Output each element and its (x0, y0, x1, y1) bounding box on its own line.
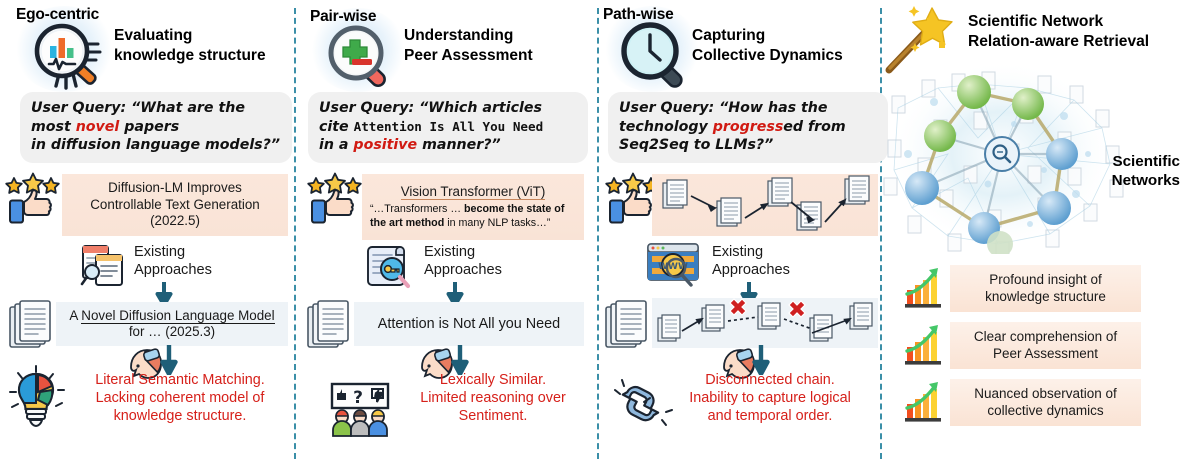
paper-card-bottom-1: A Novel Diffusion Language Model for … (… (56, 302, 288, 346)
existing-line-1: Existing (134, 244, 212, 262)
benefit-text: Nuanced observation of collective dynami… (974, 386, 1117, 419)
conclusion-line-3: knowledge structure. (68, 408, 292, 426)
paper-card-top-2: Vision Transformer (ViT) “…Transformers … (362, 174, 584, 240)
paper-card-top-1: Diffusion-LM Improves Controllable Text … (62, 174, 288, 236)
paper-card-top-3 (652, 174, 878, 236)
paper-card-bottom-2: Attention is Not All you Need (354, 302, 584, 346)
user-query-bubble-3: User Query: “How has the technology prog… (608, 92, 888, 163)
document-search-icon (80, 243, 126, 292)
column-tag-ego-centric: Ego-centric (16, 6, 99, 24)
card-line-1: Diffusion-LM Improves (90, 180, 259, 196)
query-text: technology (619, 119, 713, 135)
crowd-sentiment-icon: ? (330, 382, 390, 443)
card-underlined: Novel Diffusion Language Model (81, 308, 274, 324)
paper-card-bottom-3 (652, 298, 878, 348)
query-line-3: in a positive manner?” (319, 136, 577, 155)
svg-text:?: ? (353, 388, 363, 408)
column-divider-2 (597, 8, 599, 459)
query-paper-title: Attention Is All You Need (354, 119, 544, 134)
query-line-1: User Query: “What are the (31, 99, 281, 118)
panel-title: Scientific Network Relation-aware Retrie… (968, 12, 1183, 52)
title-line-1: Capturing (692, 26, 882, 46)
card-line-1: A Novel Diffusion Language Model (69, 308, 274, 324)
benefit-line-1: Clear comprehension of (974, 329, 1117, 346)
existing-line-2: Approaches (424, 262, 502, 280)
figure-root: Ego-centric (0, 0, 1183, 467)
connected-paper-chain-icon (655, 174, 875, 237)
broken-paper-chain-icon (654, 297, 876, 350)
conclusion-text-3: Disconnected chain. Inability to capture… (664, 372, 876, 425)
card-line-2: Controllable Text Generation (90, 197, 259, 213)
paper-card-text: Diffusion-LM Improves Controllable Text … (90, 180, 259, 229)
three-stars-thumbsup-icon (304, 172, 366, 239)
panel-title-line-2: Relation-aware Retrieval (968, 32, 1183, 52)
query-highlight: positive (353, 137, 417, 153)
existing-line-1: Existing (712, 244, 790, 262)
column-divider-1 (294, 8, 296, 459)
title-line-2: knowledge structure (114, 46, 294, 66)
column-ego-centric: Ego-centric (0, 0, 294, 467)
conclusion-line-3: Sentiment. (394, 408, 592, 426)
query-text: in a (319, 137, 353, 153)
broken-lightbulb-puzzle-icon (6, 362, 70, 433)
growth-chart-icon (902, 266, 946, 315)
query-text: manner?” (417, 137, 500, 153)
magnifier-plusminus-icon (320, 22, 398, 92)
paper-stack-icon (306, 300, 354, 355)
scientific-networks-label: Scientific Networks (1080, 152, 1180, 190)
magnifier-clock-icon (614, 20, 694, 92)
existing-line-2: Approaches (134, 262, 212, 280)
card-title-underlined: Vision Transformer (ViT) (401, 184, 546, 200)
column-tag-path-wise: Path-wise (603, 6, 674, 24)
query-highlight: progress (713, 119, 784, 135)
query-text: cite (319, 119, 354, 135)
paper-stack-icon (8, 300, 56, 355)
magnifier-barchart-icon (26, 20, 106, 90)
benefit-item-1: Profound insight of knowledge structure (950, 265, 1141, 312)
card-prefix: A (69, 308, 81, 323)
query-line-2: cite Attention Is All You Need (319, 118, 577, 137)
conclusion-line-1: Literal Semantic Matching. (68, 372, 292, 390)
paper-card-text: A Novel Diffusion Language Model for … (… (69, 308, 274, 341)
growth-chart-icon (902, 323, 946, 372)
existing-line-1: Existing (424, 244, 502, 262)
conclusion-line-3: and temporal order. (664, 408, 876, 426)
benefit-text: Clear comprehension of Peer Assessment (974, 329, 1117, 362)
title-line-1: Understanding (404, 26, 594, 46)
growth-chart-icon (902, 380, 946, 429)
title-line-2: Collective Dynamics (692, 46, 882, 66)
user-query-bubble-1: User Query: “What are the most novel pap… (20, 92, 292, 163)
conclusion-line-2: Lacking coherent model of (68, 390, 292, 408)
paper-card-title: Vision Transformer (ViT) (401, 184, 546, 200)
paper-card-quote: “…Transformers … become the state of the… (362, 203, 584, 230)
column-title-path-wise: Capturing Collective Dynamics (692, 26, 882, 66)
query-line-2: technology progressed from (619, 118, 877, 137)
paper-card-text: Attention is Not All you Need (378, 316, 560, 332)
existing-approaches-label-1: Existing Approaches (134, 244, 212, 279)
benefit-line-2: knowledge structure (985, 289, 1106, 306)
quote-post: in many NLP tasks…” (444, 217, 550, 229)
existing-approaches-label-3: Existing Approaches (712, 244, 790, 279)
user-query-bubble-2: User Query: “Which articles cite Attenti… (308, 92, 588, 163)
conclusion-line-2: Limited reasoning over (394, 390, 592, 408)
query-line-3: Seq2Seq to LLMs?” (619, 136, 877, 155)
conclusion-text-2: Lexically Similar. Limited reasoning ove… (394, 372, 592, 425)
benefit-text: Profound insight of knowledge structure (985, 272, 1106, 305)
networks-label-line-2: Networks (1080, 171, 1180, 190)
column-title-pair-wise: Understanding Peer Assessment (404, 26, 594, 66)
query-line-1: User Query: “How has the (619, 99, 877, 118)
benefit-line-2: collective dynamics (974, 403, 1117, 420)
existing-line-2: Approaches (712, 262, 790, 280)
benefit-item-2: Clear comprehension of Peer Assessment (950, 322, 1141, 369)
existing-approaches-label-2: Existing Approaches (424, 244, 502, 279)
benefit-line-1: Nuanced observation of (974, 386, 1117, 403)
column-title-ego-centric: Evaluating knowledge structure (114, 26, 294, 66)
query-text: papers (119, 119, 179, 135)
column-path-wise: Path-wise Capturing Collective Dynamics … (600, 0, 878, 467)
card-line-3: (2022.5) (90, 213, 259, 229)
search-node-icon (985, 137, 1019, 171)
benefit-line-1: Profound insight of (985, 272, 1106, 289)
column-pair-wise: Pair-wise Understanding Peer Assessment … (298, 0, 594, 467)
conclusion-line-2: Inability to capture logical (664, 390, 876, 408)
quote-pre: “…Transformers … (370, 203, 464, 215)
query-text: ed from (783, 119, 845, 135)
title-line-1: Evaluating (114, 26, 294, 46)
conclusion-text-1: Literal Semantic Matching. Lacking coher… (68, 372, 292, 425)
three-stars-thumbsup-icon (2, 172, 64, 239)
networks-label-line-1: Scientific (1080, 152, 1180, 171)
query-line-1: User Query: “Which articles (319, 99, 577, 118)
scroll-key-search-icon (366, 243, 414, 294)
benefit-item-3: Nuanced observation of collective dynami… (950, 379, 1141, 426)
paper-stack-icon (604, 300, 652, 355)
query-text: most (31, 119, 76, 135)
query-highlight: novel (76, 119, 120, 135)
www-browser-search-icon: WWW (646, 242, 704, 293)
benefit-line-2: Peer Assessment (974, 346, 1117, 363)
query-line-3: in diffusion language models?” (31, 136, 281, 155)
column-tag-pair-wise: Pair-wise (310, 8, 376, 26)
panel-title-line-1: Scientific Network (968, 12, 1183, 32)
panel-scientific-network: Scientific Network Relation-aware Retrie… (884, 0, 1183, 467)
conclusion-line-1: Lexically Similar. (394, 372, 592, 390)
card-line-2: for … (2025.3) (69, 324, 274, 340)
title-line-2: Peer Assessment (404, 46, 594, 66)
query-line-2: most novel papers (31, 118, 281, 137)
conclusion-line-1: Disconnected chain. (664, 372, 876, 390)
